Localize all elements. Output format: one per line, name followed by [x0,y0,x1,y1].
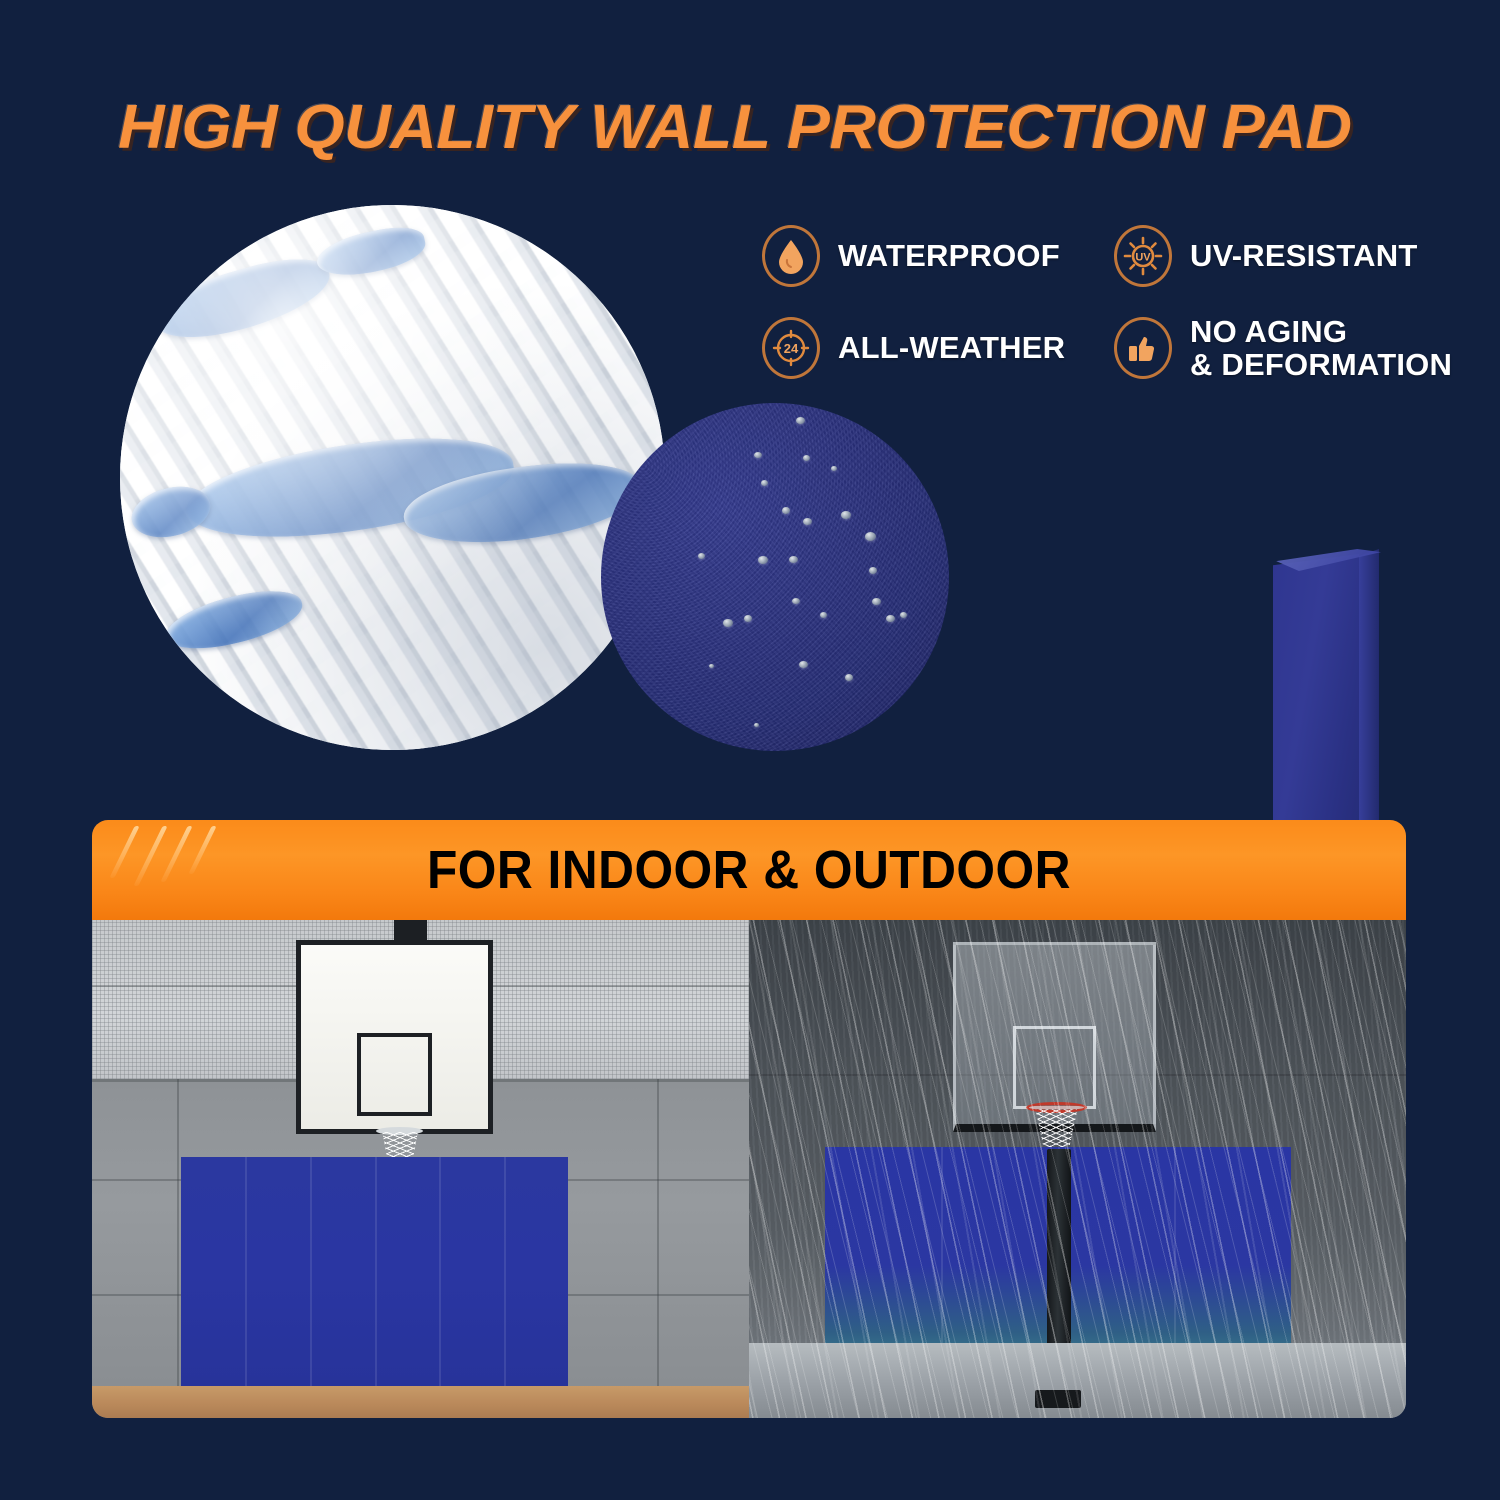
vinyl-closeup-circle [601,403,949,751]
thumbs-up-icon [1114,317,1172,379]
pad-seam [1174,1147,1176,1364]
pad-seam [439,1157,441,1386]
gym-wood-floor [92,1386,749,1418]
backboard-inner-square [1013,1026,1096,1110]
water-droplet [869,567,877,574]
pad-seam [310,1157,312,1386]
feature-list: WATERPROOF UV [762,212,1462,396]
banner-label: FOR INDOOR & OUTDOOR [145,820,1354,920]
wall-seam [177,1079,179,1388]
outdoor-rain-photo [749,920,1406,1418]
feature-uv-resistant: UV UV-RESISTANT [1114,225,1462,287]
water-droplet [831,466,837,471]
water-droplet [761,480,768,486]
svg-text:UV: UV [1135,252,1151,264]
pad-seam [504,1157,506,1386]
uv-sun-icon: UV [1114,225,1172,287]
feature-waterproof: WATERPROOF [762,225,1114,287]
water-droplet [723,619,733,627]
mesh-closeup-circle [120,205,665,750]
vinyl-texture [601,403,949,751]
water-droplet [803,518,812,525]
pad-seam [245,1157,247,1386]
mesh-shading [120,205,665,750]
indoor-outdoor-banner: FOR INDOOR & OUTDOOR [92,820,1406,920]
water-droplet [789,556,798,563]
water-drop-icon [762,225,820,287]
water-droplet [758,556,768,564]
backboard [296,940,493,1134]
pad-seam [375,1157,377,1386]
water-droplet [900,612,907,618]
feature-label: NO AGING & DEFORMATION [1190,315,1452,382]
pole-base [1035,1390,1081,1408]
feature-all-weather: 24 ALL-WEATHER [762,317,1114,379]
water-droplet [799,661,808,668]
infographic-page: HIGH QUALITY WALL PROTECTION PAD WATERPR… [0,0,1500,1500]
backboard-inner-square [357,1033,432,1116]
feature-label: WATERPROOF [838,239,1060,272]
wall-seam [657,1079,659,1388]
svg-text:24: 24 [784,341,799,356]
feature-label: ALL-WEATHER [838,331,1065,364]
clock-24-icon: 24 [762,317,820,379]
water-droplet [754,452,762,458]
water-droplet [820,612,827,618]
photo-pair [92,920,1406,1418]
pad-seam [941,1147,943,1364]
feature-no-aging: NO AGING & DEFORMATION [1114,315,1462,382]
water-droplet [803,455,810,461]
feature-label: UV-RESISTANT [1190,239,1417,272]
water-droplet [744,615,752,622]
water-droplet [709,664,714,668]
wall-pad-indoor [181,1157,569,1386]
indoor-gym-photo [92,920,749,1418]
water-droplet [796,417,805,424]
page-title: HIGH QUALITY WALL PROTECTION PAD [118,97,1352,159]
water-droplet [841,511,851,519]
